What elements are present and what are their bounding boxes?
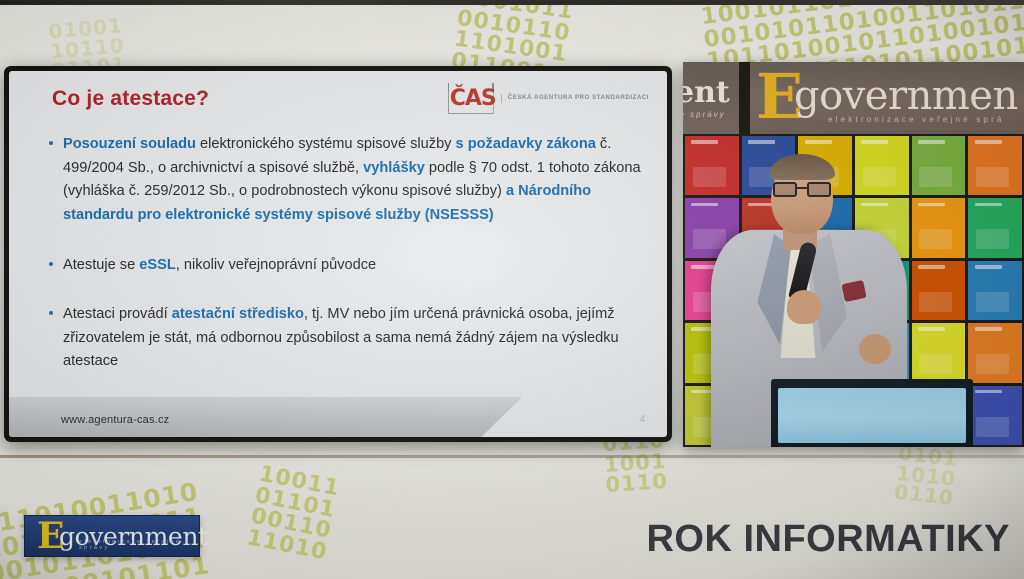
podium — [771, 379, 973, 447]
slide-footer: www.agentura-cas.cz 4 — [9, 395, 667, 437]
footer-website-url: www.agentura-cas.cz — [61, 414, 169, 426]
cas-logo-mark: ČAS — [448, 83, 494, 114]
magazine-banner-divider — [739, 62, 750, 134]
bullet-dot-icon — [49, 262, 53, 266]
podium-display-panel — [778, 388, 966, 443]
conference-room-photo: 01001 10110 01101 1001011 0010110 110100… — [0, 0, 1024, 579]
bullet-item-3: Atestaci provádí atestační středisko, tj… — [49, 303, 641, 374]
magazine-banner-left-partial: ent né správy — [683, 62, 739, 134]
wall-seam-bottom — [0, 455, 1024, 458]
speaker-hand-holding-mic — [787, 290, 821, 324]
wall-seam-top — [0, 0, 1024, 5]
speaker-video-panel: ent né správy E governmen elektronizace … — [683, 62, 1024, 447]
magazine-left-title: ent — [683, 75, 730, 110]
bullet-dot-icon — [49, 141, 53, 145]
magazine-banner-main: E governmen elektronizace veřejné sprá — [750, 62, 1024, 134]
magazine-banner: ent né správy E governmen elektronizace … — [683, 62, 1024, 134]
speaker-photo: ent né správy E governmen elektronizace … — [683, 62, 1024, 447]
bullet-text-1: Posouzení souladu elektronického systému… — [63, 133, 641, 228]
glasses-lens-right — [807, 182, 831, 197]
bullet-item-2: Atestuje se eSSL, nikoliv veřejnoprávní … — [49, 254, 641, 278]
body-phrase: elektronického systému spisové služby — [200, 136, 456, 152]
body-phrase: Atestuje se — [63, 257, 139, 273]
bullet-text-3: Atestaci provádí atestační středisko, tj… — [63, 303, 641, 374]
body-phrase: Atestaci provádí — [63, 306, 172, 322]
egovernment-logo-tagline: elektronizace veřejné správy — [79, 539, 199, 551]
magazine-left-tagline: né správy — [683, 110, 726, 119]
bullet-item-1: Posouzení souladu elektronického systému… — [49, 133, 641, 228]
highlighted-phrase: vyhlášky — [363, 160, 425, 176]
glasses-bridge — [797, 187, 807, 189]
egovernment-logo: E government elektronizace veřejné správ… — [24, 515, 200, 557]
cas-logo-subtitle: ČESKÁ AGENTURA PRO STANDARDIZACI — [501, 94, 649, 103]
slide-page-number: 4 — [639, 414, 645, 425]
slide-title: Co je atestace? — [52, 87, 209, 111]
highlighted-phrase: atestační středisko — [172, 306, 304, 322]
body-phrase: , nikoliv veřejnoprávní původce — [176, 257, 376, 273]
highlighted-phrase: Posouzení souladu — [63, 136, 200, 152]
glasses-lens-left — [773, 182, 797, 197]
highlighted-phrase: s požadavky zákona — [456, 136, 596, 152]
speaker-hair — [769, 154, 835, 180]
presentation-slide: Co je atestace? ČAS ČESKÁ AGENTURA PRO S… — [9, 71, 667, 437]
cas-agency-logo: ČAS ČESKÁ AGENTURA PRO STANDARDIZACI — [448, 83, 649, 114]
magazine-logo-word: governmen — [794, 76, 1018, 116]
speaker-glasses-icon — [773, 182, 831, 197]
bullet-text-2: Atestuje se eSSL, nikoliv veřejnoprávní … — [63, 254, 641, 278]
cas-logo-text: ČAS — [450, 86, 496, 111]
projection-screen: Co je atestace? ČAS ČESKÁ AGENTURA PRO S… — [4, 66, 672, 442]
event-title: ROK INFORMATIKY — [646, 518, 1010, 561]
speaker-figure — [683, 134, 1024, 447]
slide-bullet-list: Posouzení souladu elektronického systému… — [49, 133, 641, 400]
magazine-logo-tagline: elektronizace veřejné sprá — [828, 115, 1005, 124]
bullet-dot-icon — [49, 311, 53, 315]
binary-pattern-bottom-middle: 10011 01101 00110 11010 — [245, 463, 389, 572]
speaker-hand-right — [859, 334, 891, 364]
highlighted-phrase: eSSL — [139, 257, 176, 273]
